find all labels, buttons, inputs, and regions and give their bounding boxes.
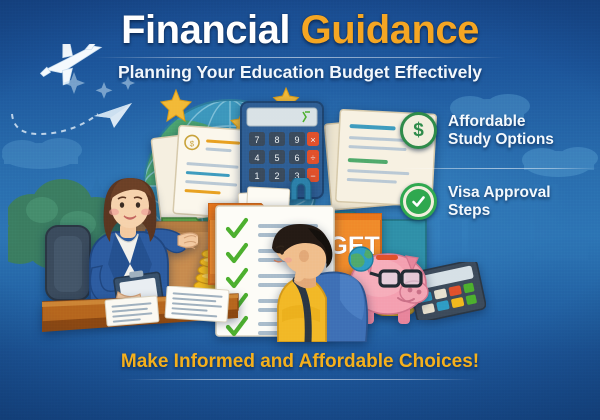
svg-text:×: ×: [310, 135, 315, 145]
page-title: Financial Guidance: [0, 6, 600, 54]
callout-line-1: Visa Approval: [448, 184, 551, 202]
svg-text:9: 9: [294, 135, 299, 145]
globe-icon: [348, 246, 374, 272]
svg-text:÷: ÷: [311, 153, 316, 163]
tagline-divider: [124, 379, 476, 380]
callout-affordable-study-options[interactable]: $ Affordable Study Options: [400, 112, 590, 149]
callout-line-2: Steps: [448, 202, 551, 220]
callout-visa-approval-steps[interactable]: Visa Approval Steps: [400, 183, 590, 220]
check-glyph: [411, 194, 426, 209]
dollar-coin-icon: $: [400, 112, 437, 149]
page-tagline: Make Informed and Affordable Choices!: [0, 351, 600, 373]
page-subtitle: Planning Your Education Budget Effective…: [0, 62, 600, 83]
callout-line-2: Study Options: [448, 131, 554, 149]
callout-label: Affordable Study Options: [448, 113, 554, 149]
callout-line-1: Affordable: [448, 113, 554, 131]
check-circle-icon: [400, 183, 437, 220]
callout-divider: [400, 168, 598, 169]
title-accent: Guidance: [301, 8, 479, 52]
svg-text:6: 6: [294, 153, 299, 163]
title-main: Financial: [121, 8, 290, 52]
svg-text:8: 8: [274, 135, 279, 145]
callout-label: Visa Approval Steps: [448, 184, 551, 220]
student-boy-icon: [262, 222, 378, 342]
title-divider: [94, 57, 506, 58]
infographic-banner: $ 789 456 1: [0, 0, 600, 420]
svg-text:5: 5: [274, 153, 279, 163]
documents-icon: [104, 286, 234, 330]
svg-text:4: 4: [254, 153, 259, 163]
svg-text:7: 7: [254, 135, 259, 145]
